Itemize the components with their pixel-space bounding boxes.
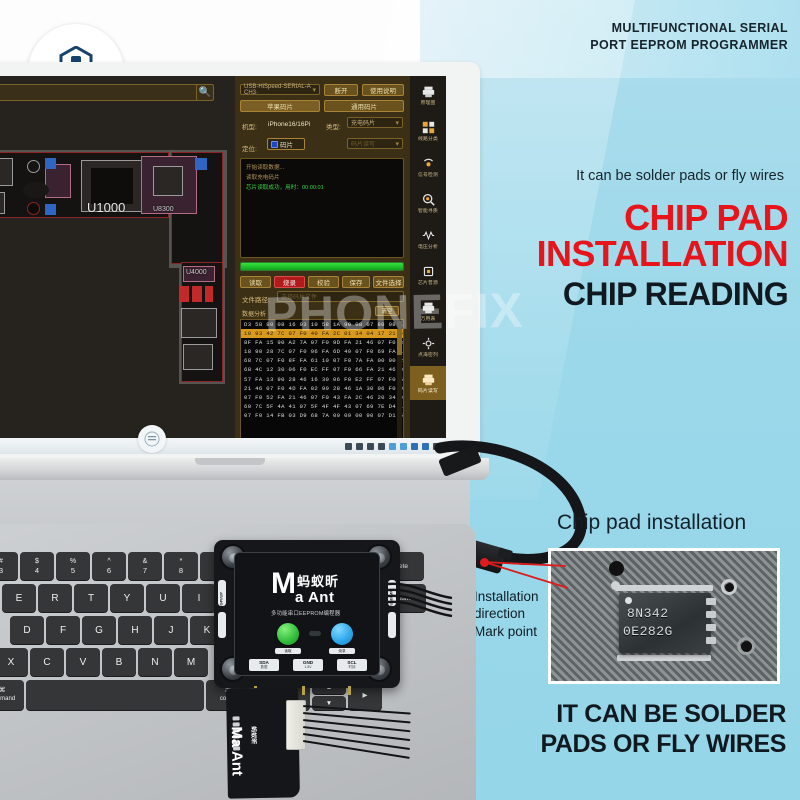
key-f[interactable]: F [46,616,80,644]
type-select[interactable]: 充电码片 ▾ [347,117,403,128]
mark-pad [611,581,620,590]
note-line1: Installation [474,588,539,605]
signal-icon [422,157,435,170]
port-sub: 数据 [261,665,268,670]
file-path-input[interactable]: 选择码片文件 [277,291,404,302]
headline-red-line2: INSTALLATION [537,236,788,272]
key-symbol: ^ [107,557,110,566]
wave-icon [422,229,435,242]
port-sub: 1.8V [305,665,312,670]
magnifier-icon [422,193,435,206]
pcb-canvas[interactable]: U1000 U8300 U4000 [0,108,233,453]
music-icon[interactable] [367,443,374,450]
clock-icon[interactable] [400,443,407,450]
rail-label: 点海密列 [418,351,438,358]
chip-marking-line1: 8N342 [627,606,669,621]
hex-row: 8F FA 15 90 A2 7A 07 F0 9D FA 21 46 07 F… [241,338,403,347]
locate-radio[interactable]: 码片 [267,138,305,150]
key-symbol: * [180,557,183,566]
header-title-line1: MULTIFUNCTIONAL SERIAL [590,20,788,37]
radio-dot-icon [271,141,278,148]
key-d[interactable]: D [10,616,44,644]
hex-row: 18 90 28 7C 07 F0 96 FA 6D 49 07 F0 69 F… [241,347,403,356]
hex-row: 07 F0 52 FA 21 46 07 F0 43 FA 2C 46 20 3… [241,393,403,402]
key-n[interactable]: N [138,648,172,676]
hex-scrollbar[interactable] [397,321,402,447]
header-title: MULTIFUNCTIONAL SERIAL PORT EEPROM PROGR… [590,20,788,54]
footer-line1: IT CAN BE SOLDER [556,700,786,728]
cpu-icon [422,265,435,278]
key-x[interactable]: X [0,648,28,676]
rail-item-chip-read-write[interactable]: 码片读写 [410,366,446,400]
meter-icon [422,301,435,314]
rail-item-schematic[interactable]: 原理图 [410,78,446,112]
file-path-label: 文件路径: [242,294,270,304]
key-m[interactable]: M [174,648,208,676]
brand-a-ant: a Ant [295,589,334,606]
pcb-search-input[interactable]: ▾ [0,84,211,101]
pcb-label-u8300: U8300 [153,206,174,213]
tool-rail: 原理图 线路分类 信号检测 智能寻质 电压分析 [410,76,446,454]
search-icon[interactable]: 🔍 [196,84,214,101]
port-gnd[interactable]: GND 1.8V [293,659,323,671]
pin-header [348,686,351,695]
pcb-hole [609,561,624,576]
key-label: 5 [71,566,75,575]
rail-item-multimeter[interactable]: 万用表 [410,294,446,328]
hex-row: 21 46 07 F0 4D FA 02 90 28 46 1A 30 06 F… [241,384,403,393]
gear-icon [422,337,435,350]
dots-icon[interactable] [378,443,385,450]
rail-label: 码片读写 [418,387,438,394]
note-line3: Mark point [474,623,539,640]
chevron-down-icon: ▾ [395,119,399,127]
progress-bar [240,262,404,271]
installation-note: Installation direction Mark point [474,588,539,640]
maant-programmer-board: M 蚂蚁昕 a Ant 多功能串口EEPROM编程器 读取 烧录 SDA 数据 … [214,540,400,688]
key-u[interactable]: U [146,584,180,612]
port-sda[interactable]: SDA 数据 [249,659,279,671]
poster-root: MULTIFUNCTIONAL SERIAL PORT EEPROM PROGR… [0,0,800,800]
leader-dot [480,558,489,567]
rail-item-chip-source[interactable]: 芯片普源 [410,258,446,292]
chip-rw-icon [422,373,435,386]
read-button[interactable]: 读取 [240,276,271,288]
board-wires [386,568,466,638]
headline-black-line: CHIP READING [563,278,788,310]
port-sub: 时钟 [349,665,356,670]
key-label: 8 [179,566,183,575]
log-line: 开始读取数据... [246,163,398,173]
rail-item-circuit-class[interactable]: 线路分类 [410,114,446,148]
pcb-label-u4000: U4000 [186,269,207,276]
key-y[interactable]: Y [110,584,144,612]
locate-select-value: 码片读写 [351,139,375,148]
key-symbol: % [70,557,76,566]
read-button-caption: 读取 [275,648,301,654]
log-line-success: 芯片读取成功，用时：00:00:01 [246,183,398,193]
key-r[interactable]: R [38,584,72,612]
key-space[interactable] [26,680,204,710]
side-pad-left-2 [218,612,226,638]
device-select-value: USB-HiSpeed-SERIAL-A CH3· [244,84,312,96]
laptop-device: ▾ 🔍 [0,62,480,482]
hex-row: 07 F0 14 FB 03 D9 68 7A 00 09 00 90 07 D… [241,411,403,420]
pcb-hole [725,583,734,592]
hex-row-selected: 10 93 42 7C 07 F0 40 FA 2C 01 34 04 17 2… [241,329,403,338]
key-h[interactable]: H [118,616,152,644]
adapter-brand-cn: 蚂蚁昕 [250,726,259,744]
chevron-down-icon: ▾ [312,86,316,94]
rail-item-settings[interactable]: 点海密列 [410,330,446,364]
header-title-line2: PORT EEPROM PROGRAMMER [590,37,788,54]
verify-button[interactable]: 校验 [308,276,339,288]
key-symbol: $ [35,557,39,566]
hex-clear-button[interactable]: 清空 [375,306,399,316]
brand-m-letter: M [271,571,296,597]
hex-dump-panel[interactable]: D3 58 80 08 16 93 10 58 1A 90 08 07 80 0… [240,319,404,449]
rail-label: 线路分类 [418,135,438,142]
tab-apple-chip[interactable]: 苹果码片 [240,100,320,112]
hex-row: D3 58 80 08 16 93 10 58 1A 90 08 07 80 0… [241,320,403,329]
locate-select[interactable]: 码片读写 ▾ [347,138,403,149]
log-line: 读取充电码片 [246,173,398,183]
ribbon-cable [303,702,413,750]
key-b[interactable]: B [102,648,136,676]
hex-panel-title: 数据分析 [242,309,266,318]
key-8[interactable]: * 8 [164,552,198,580]
key-label: 6 [107,566,111,575]
pin-header [302,686,305,695]
help-button[interactable]: 使用说明 [362,84,404,96]
note-line2: direction [474,605,539,622]
locate-radio-label: 码片 [280,139,293,149]
model-label: 机型: [242,121,257,131]
disconnect-button[interactable]: 断开 [324,84,358,96]
key-j[interactable]: J [154,616,188,644]
key-label: 3 [0,566,3,575]
log-console[interactable]: 开始读取数据... 读取充电码片 芯片读取成功，用时：00:00:01 [240,158,404,258]
hex-row: 57 FA 13 90 28 46 16 30 06 F0 E2 FF 07 F… [241,375,403,384]
laptop-notch [195,458,265,465]
key-command-left[interactable]: ⌘ command [0,680,24,710]
model-value: iPhone16/16Pi [268,121,310,128]
key-v[interactable]: V [66,648,100,676]
save-button[interactable]: 保存 [342,276,370,288]
pcb-viewer-pane: ▾ 🔍 [0,76,235,454]
laptop-screen: ▾ 🔍 [0,76,446,454]
cn-icon[interactable] [356,443,363,450]
read-button-green[interactable] [277,623,299,645]
solder-bar-bottom [617,655,711,661]
control-pane: USB-HiSpeed-SERIAL-A CH3· ▾ 断开 使用说明 苹果码片… [235,76,410,454]
ime-glyph-icon [144,431,160,447]
chevron-down-icon: ▾ [395,140,399,148]
key-label: 4 [35,566,39,575]
locate-label: 定位: [242,143,257,153]
adapter-brand: Ma Ant [228,726,246,776]
ime-bubble[interactable] [138,425,166,453]
key-g[interactable]: G [82,616,116,644]
key-3[interactable]: # 3 [0,552,18,580]
burn-button[interactable]: 烧录 [274,276,305,288]
printer-icon [422,85,435,98]
rail-label: 原理图 [421,99,436,106]
key-5[interactable]: % 5 [56,552,90,580]
rail-label: 电压分析 [418,243,438,250]
headline-red-line1: CHIP PAD [624,200,788,236]
footer-line2: PADS OR FLY WIRES [540,730,786,758]
write-button-blue[interactable] [331,623,353,645]
chip-dot-marker [625,597,632,604]
brand-chinese: 蚂蚁昕 [297,571,339,590]
chip-marking-line2: 0E282G [623,624,673,639]
hex-row: 68 4C 12 30 06 F0 EC FF 07 F0 66 FA 21 4… [241,365,403,374]
rail-label: 芯片普源 [418,279,438,286]
file-select-button[interactable]: 文件选择 [373,276,404,288]
key-i[interactable]: I [182,584,216,612]
tab-generic-chip[interactable]: 通用码片 [324,100,404,112]
key-symbol: & [143,557,148,566]
port-scl[interactable]: SCL 时钟 [337,659,367,671]
rail-item-voltage-analysis[interactable]: 电压分析 [410,222,446,256]
rail-item-signal-test[interactable]: 信号检测 [410,150,446,184]
key-c[interactable]: C [30,648,64,676]
key-t[interactable]: T [74,584,108,612]
rail-label: 信号检测 [418,171,438,178]
key-label: command [0,695,15,704]
wrench-icon[interactable] [389,443,396,450]
side-label-left: GPI/UP [219,580,224,606]
pcb-label-u1000: U1000 [87,200,125,215]
type-label: 类型: [326,121,341,131]
rail-label: 万用表 [421,315,436,322]
key-e[interactable]: E [2,584,36,612]
write-button-caption: 烧录 [329,648,355,654]
key-label: 7 [143,566,147,575]
rail-label: 智能寻质 [418,207,438,214]
key-symbol: # [0,557,3,566]
eeprom-chip: 8N342 0E282G [619,593,711,653]
hex-row: 60 7C 5F 4A 41 07 5F 4F 4F 43 07 69 7E D… [241,402,403,411]
brand-subtitle: 多功能串口EEPROM编程器 [271,609,340,617]
status-led [309,631,321,636]
key-7[interactable]: & 7 [128,552,162,580]
solder-bar-top [615,585,713,591]
chip-pad-title: Chip pad installation [557,511,746,535]
rail-item-smart-diagnose[interactable]: 智能寻质 [410,186,446,220]
key-6[interactable]: ^ 6 [92,552,126,580]
subhead-text: It can be solder pads or fly wires [576,168,784,184]
os-taskbar[interactable] [0,438,446,454]
cloud-icon[interactable] [411,443,418,450]
pcb-hole [741,641,752,652]
board-face: M 蚂蚁昕 a Ant 多功能串口EEPROM编程器 读取 烧录 SDA 数据 … [234,552,380,676]
type-select-value: 充电码片 [351,118,375,127]
device-select[interactable]: USB-HiSpeed-SERIAL-A CH3· ▾ [240,84,320,95]
key-4[interactable]: $ 4 [20,552,54,580]
grid-icon [422,121,435,134]
ime-icon[interactable] [345,443,352,450]
command-glyph-icon: ⌘ [0,686,6,695]
hex-row: 68 7C 07 F0 8F FA 61 10 07 F0 7A FA 00 9… [241,356,403,365]
